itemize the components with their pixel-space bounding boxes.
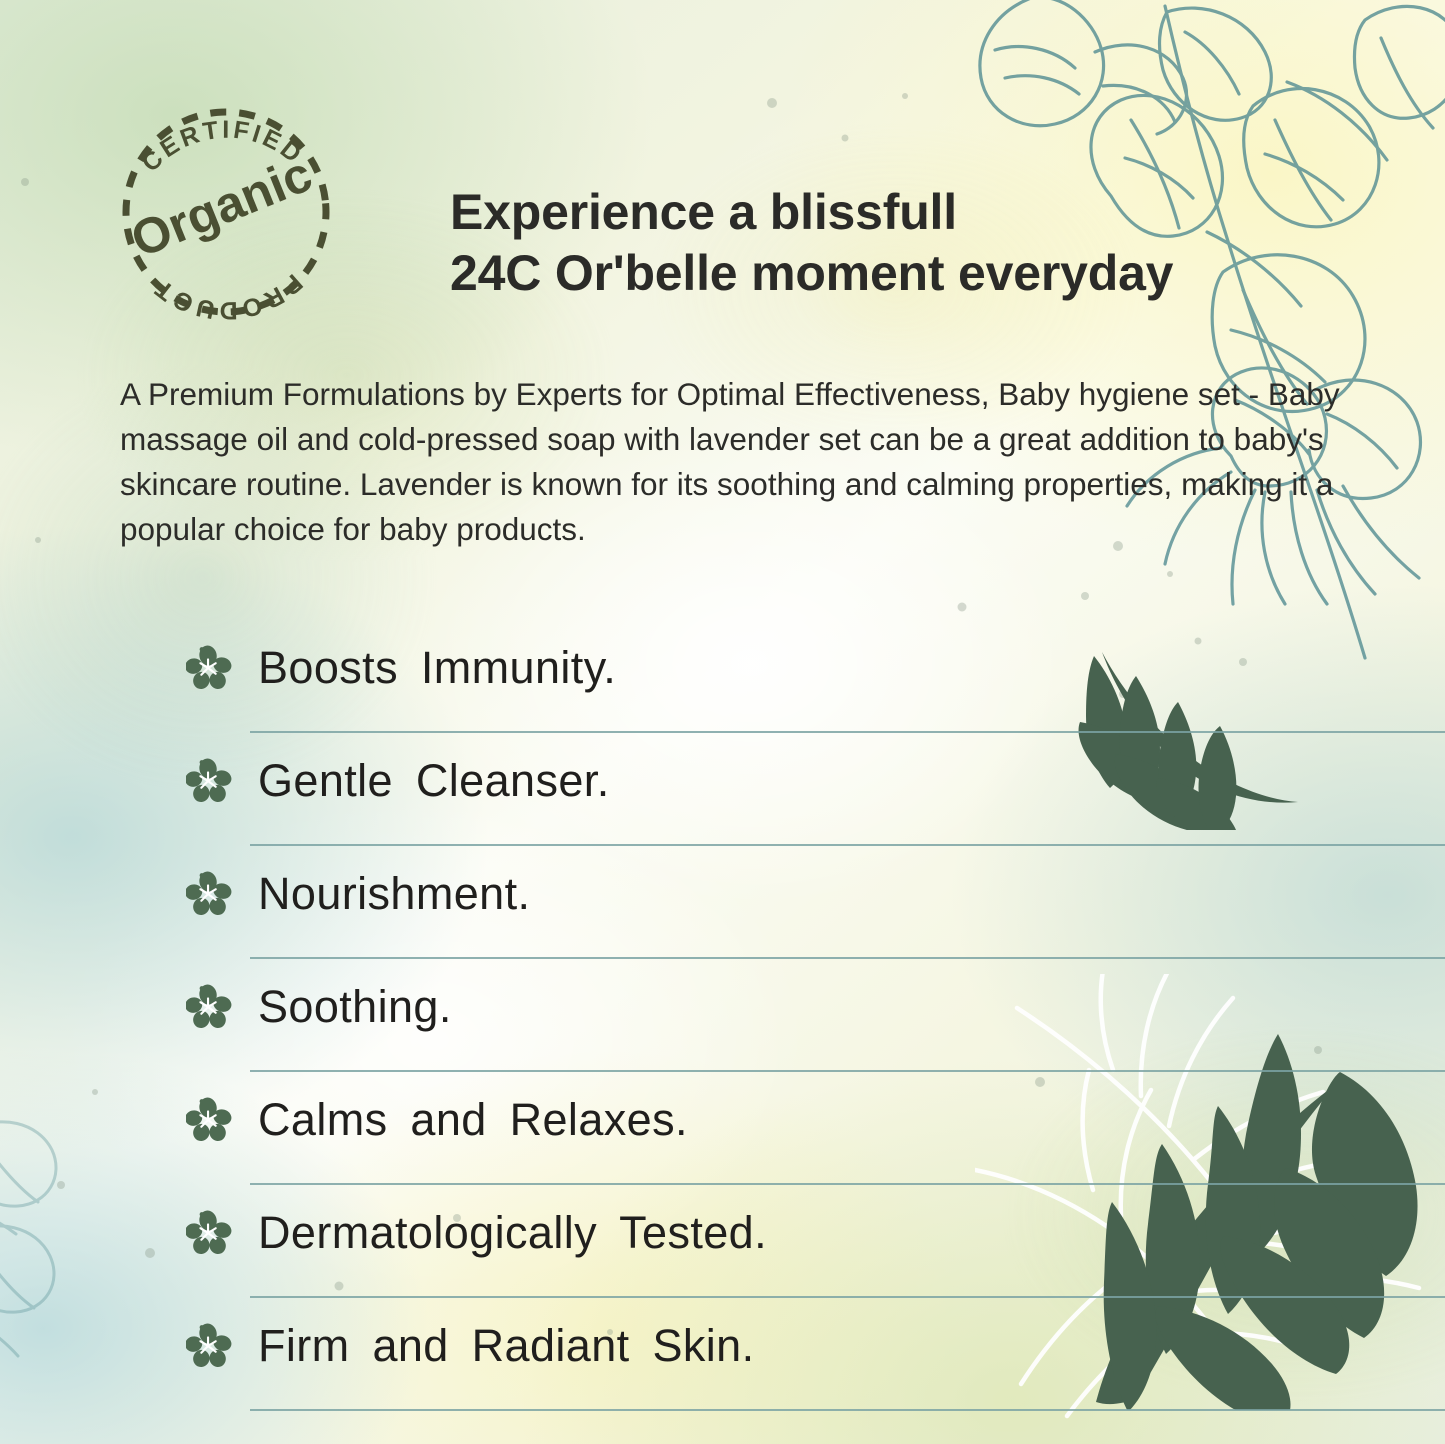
benefits-list: Boosts Immunity.: [0, 620, 1445, 1411]
floral-line-art-topright: [935, 0, 1445, 686]
list-item-label: Nourishment.: [258, 868, 530, 920]
flower-icon: [186, 1323, 232, 1369]
flower-icon: [186, 1097, 232, 1143]
page-title-line2: 24C Or'belle moment everyday: [450, 245, 1173, 301]
list-item-label: Dermatologically Tested.: [258, 1207, 767, 1259]
certified-organic-badge: CERTIFIED PRODUCT Organic: [108, 92, 344, 332]
list-item: Nourishment.: [0, 846, 1445, 959]
flower-icon: [186, 1210, 232, 1256]
flower-icon: [186, 871, 232, 917]
list-item: Gentle Cleanser.: [0, 733, 1445, 846]
list-item: Firm and Radiant Skin.: [0, 1298, 1445, 1411]
page-title-line1: Experience a blissfull: [450, 184, 957, 240]
list-item-label: Boosts Immunity.: [258, 642, 616, 694]
badge-bottom-arc-text: PRODUCT: [148, 268, 308, 324]
list-item: Calms and Relaxes.: [0, 1072, 1445, 1185]
list-divider: [250, 1409, 1445, 1411]
list-item: Soothing.: [0, 959, 1445, 1072]
list-item: Dermatologically Tested.: [0, 1185, 1445, 1298]
list-item-label: Gentle Cleanser.: [258, 755, 610, 807]
flower-icon: [186, 758, 232, 804]
flower-icon: [186, 645, 232, 691]
page-title: Experience a blissfull 24C Or'belle mome…: [450, 182, 1400, 304]
list-item: Boosts Immunity.: [0, 620, 1445, 733]
product-infographic-poster: CERTIFIED PRODUCT Organic Experience a b…: [0, 0, 1445, 1444]
product-description: A Premium Formulations by Experts for Op…: [120, 372, 1360, 552]
list-item-label: Firm and Radiant Skin.: [258, 1320, 755, 1372]
flower-icon: [186, 984, 232, 1030]
list-item-label: Soothing.: [258, 981, 452, 1033]
list-item-label: Calms and Relaxes.: [258, 1094, 688, 1146]
